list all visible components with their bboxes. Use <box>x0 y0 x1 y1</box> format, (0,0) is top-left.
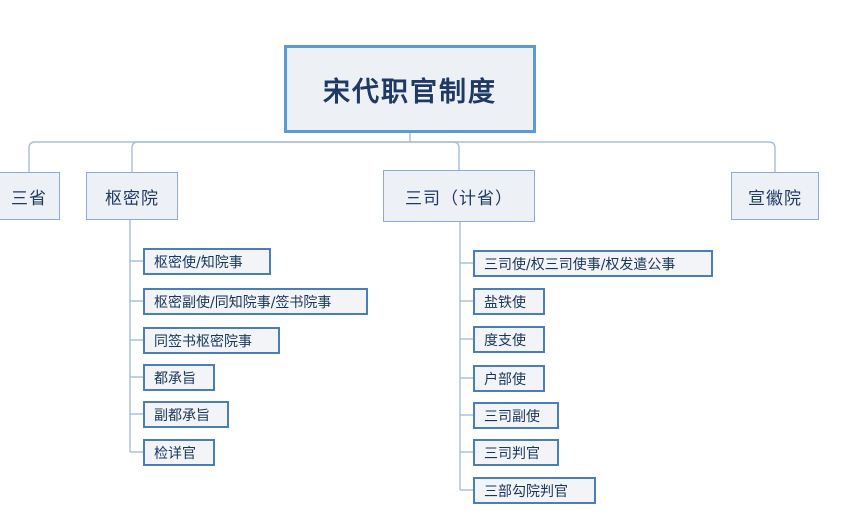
leaf-left-6-label: 检详官 <box>145 443 205 463</box>
leaf-right-6-label: 三司判官 <box>475 443 549 463</box>
leaf-left-4-label: 都承旨 <box>145 368 205 388</box>
leaf-right-2[interactable]: 盐铁使 <box>473 288 545 315</box>
leaf-right-7-label: 三部勾院判官 <box>475 481 577 501</box>
leaf-left-5-label: 副都承旨 <box>145 405 219 425</box>
connector-bus-to-xuanhuiyuan <box>410 142 775 172</box>
node-sansheng-label: 三省 <box>11 184 47 209</box>
node-shumiyuan[interactable]: 枢密院 <box>86 172 178 220</box>
leaf-left-3[interactable]: 同签书枢密院事 <box>143 327 280 354</box>
node-xuanhuiyuan-label: 宣徽院 <box>748 184 802 209</box>
node-sansi-label: 三司（计省） <box>405 184 513 209</box>
leaf-right-4-label: 户部使 <box>475 369 535 389</box>
org-chart-canvas: 宋代职官制度 三省 枢密院 三司（计省） 宣徽院 枢密使/知院事 枢密副使/同知… <box>0 0 850 528</box>
leaf-right-5[interactable]: 三司副使 <box>473 402 559 429</box>
node-shumiyuan-label: 枢密院 <box>105 184 159 209</box>
node-sansi[interactable]: 三司（计省） <box>383 170 535 222</box>
leaf-left-1[interactable]: 枢密使/知院事 <box>143 248 271 275</box>
leaf-right-4[interactable]: 户部使 <box>473 365 545 392</box>
connector-bus-to-sansheng <box>29 142 410 172</box>
node-sansheng[interactable]: 三省 <box>0 172 60 220</box>
leaf-right-7[interactable]: 三部勾院判官 <box>473 477 596 504</box>
leaf-left-4[interactable]: 都承旨 <box>143 364 215 391</box>
leaf-right-2-label: 盐铁使 <box>475 292 535 312</box>
leaf-left-1-label: 枢密使/知院事 <box>145 252 252 272</box>
leaf-right-1[interactable]: 三司使/权三司使事/权发遣公事 <box>473 250 713 277</box>
leaf-right-3-label: 度支使 <box>475 330 535 350</box>
node-root[interactable]: 宋代职官制度 <box>284 45 536 133</box>
leaf-left-3-label: 同签书枢密院事 <box>145 331 261 351</box>
leaf-right-1-label: 三司使/权三司使事/权发遣公事 <box>475 254 684 274</box>
node-xuanhuiyuan[interactable]: 宣徽院 <box>731 172 819 220</box>
leaf-left-5[interactable]: 副都承旨 <box>143 401 229 428</box>
connector-bus-to-shumiyuan <box>132 142 410 172</box>
leaf-left-2-label: 枢密副使/同知院事/签书院事 <box>145 292 340 312</box>
leaf-right-6[interactable]: 三司判官 <box>473 439 559 466</box>
leaf-right-5-label: 三司副使 <box>475 406 549 426</box>
leaf-left-6[interactable]: 检详官 <box>143 439 215 466</box>
node-root-label: 宋代职官制度 <box>323 70 497 109</box>
leaf-right-3[interactable]: 度支使 <box>473 326 545 353</box>
connector-bus-to-sansi <box>410 142 459 170</box>
leaf-left-2[interactable]: 枢密副使/同知院事/签书院事 <box>143 288 368 315</box>
